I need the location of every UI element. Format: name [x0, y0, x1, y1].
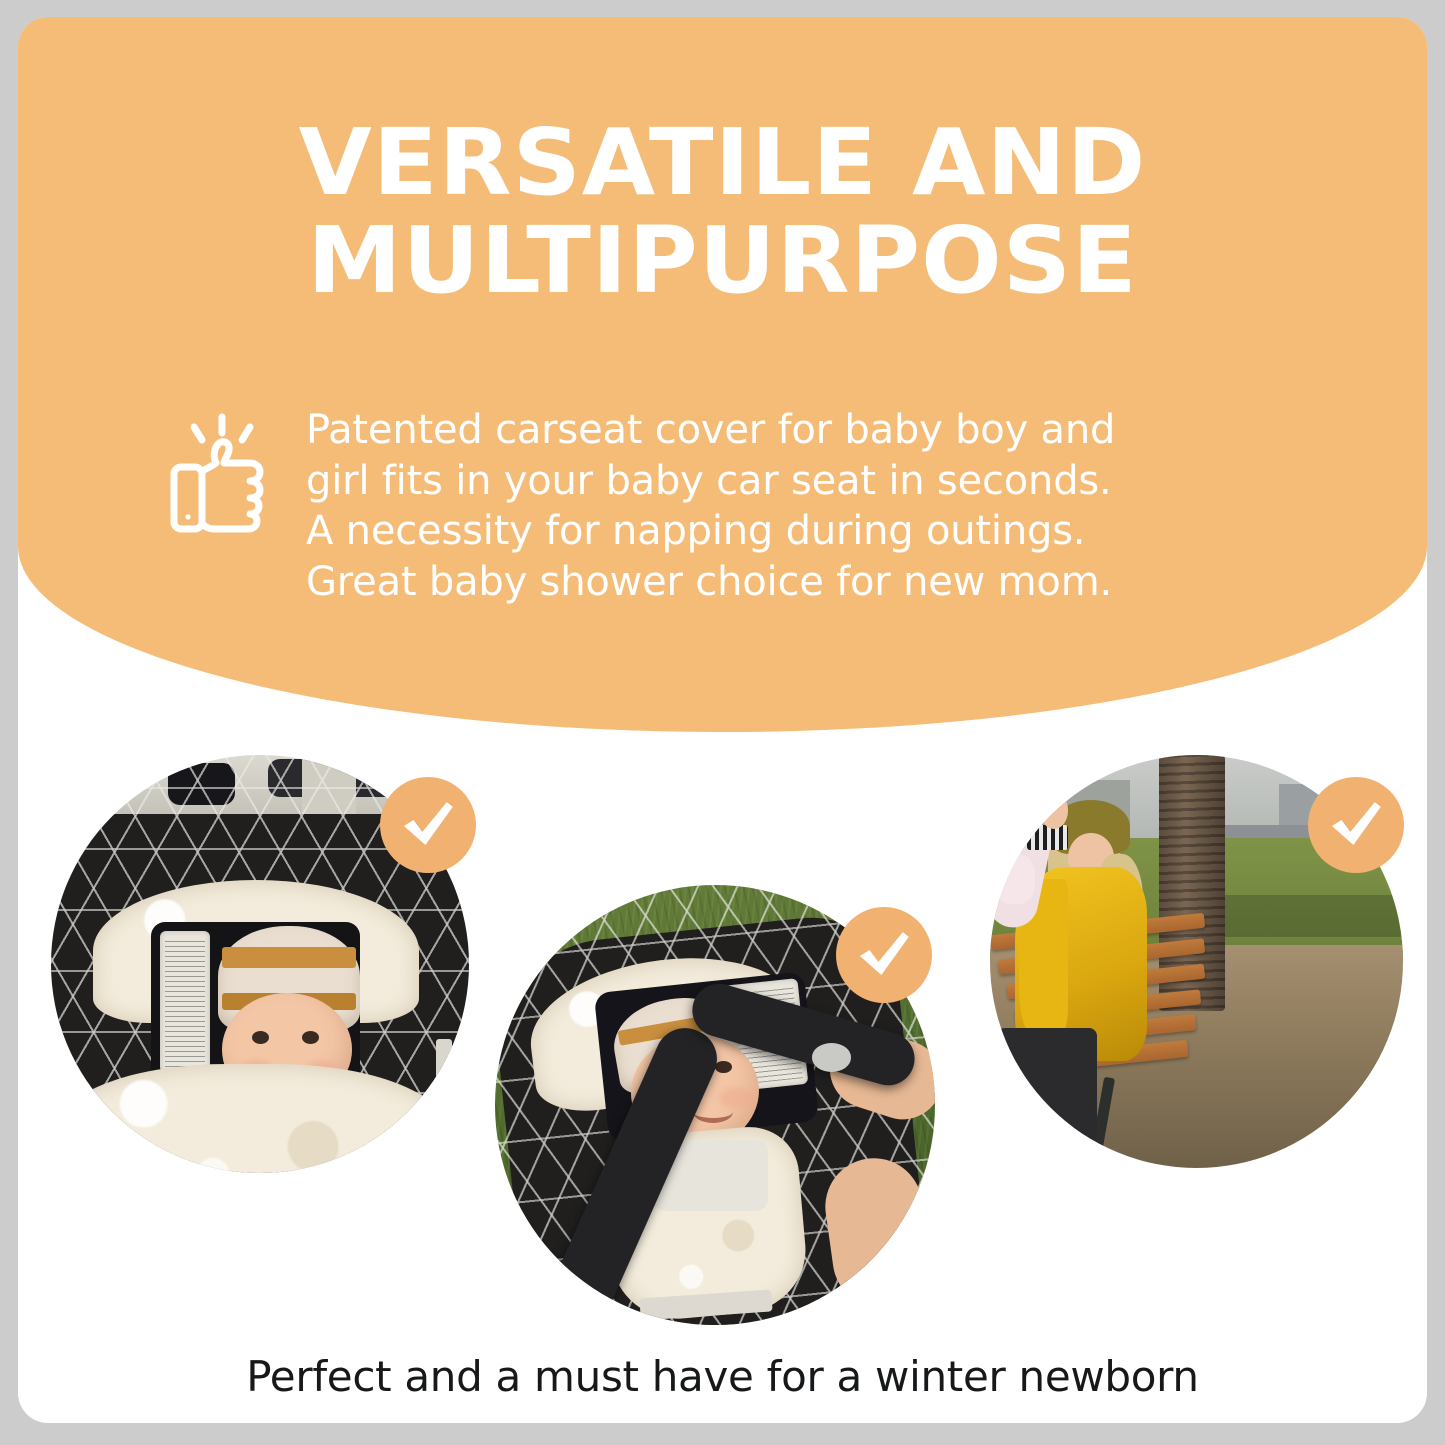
feature-callout: Patented carseat cover for baby boy and … [166, 405, 1326, 607]
page-title: VERSATILE AND MULTIPURPOSE [18, 114, 1427, 310]
feature-line-2: girl fits in your baby car seat in secon… [306, 456, 1326, 507]
product-infographic-card: VERSATILE AND MULTIPURPOSE [18, 17, 1427, 1423]
feature-line-4: Great baby shower choice for new mom. [306, 557, 1326, 608]
headline-line-1: VERSATILE AND [18, 114, 1427, 212]
header-content: VERSATILE AND MULTIPURPOSE [18, 17, 1427, 617]
check-badge-photo-1 [380, 777, 476, 873]
header-band: VERSATILE AND MULTIPURPOSE [18, 17, 1427, 732]
feature-description: Patented carseat cover for baby boy and … [306, 405, 1326, 607]
feature-line-1: Patented carseat cover for baby boy and [306, 405, 1326, 456]
feature-line-3: A necessity for napping during outings. [306, 506, 1326, 557]
thumbs-up-icon [166, 411, 278, 541]
check-badge-photo-3 [1308, 777, 1404, 873]
infographic-canvas: VERSATILE AND MULTIPURPOSE [0, 0, 1445, 1445]
check-badge-photo-2 [836, 907, 932, 1003]
headline-line-2: MULTIPURPOSE [18, 212, 1427, 310]
bottom-caption: Perfect and a must have for a winter new… [0, 1352, 1445, 1401]
